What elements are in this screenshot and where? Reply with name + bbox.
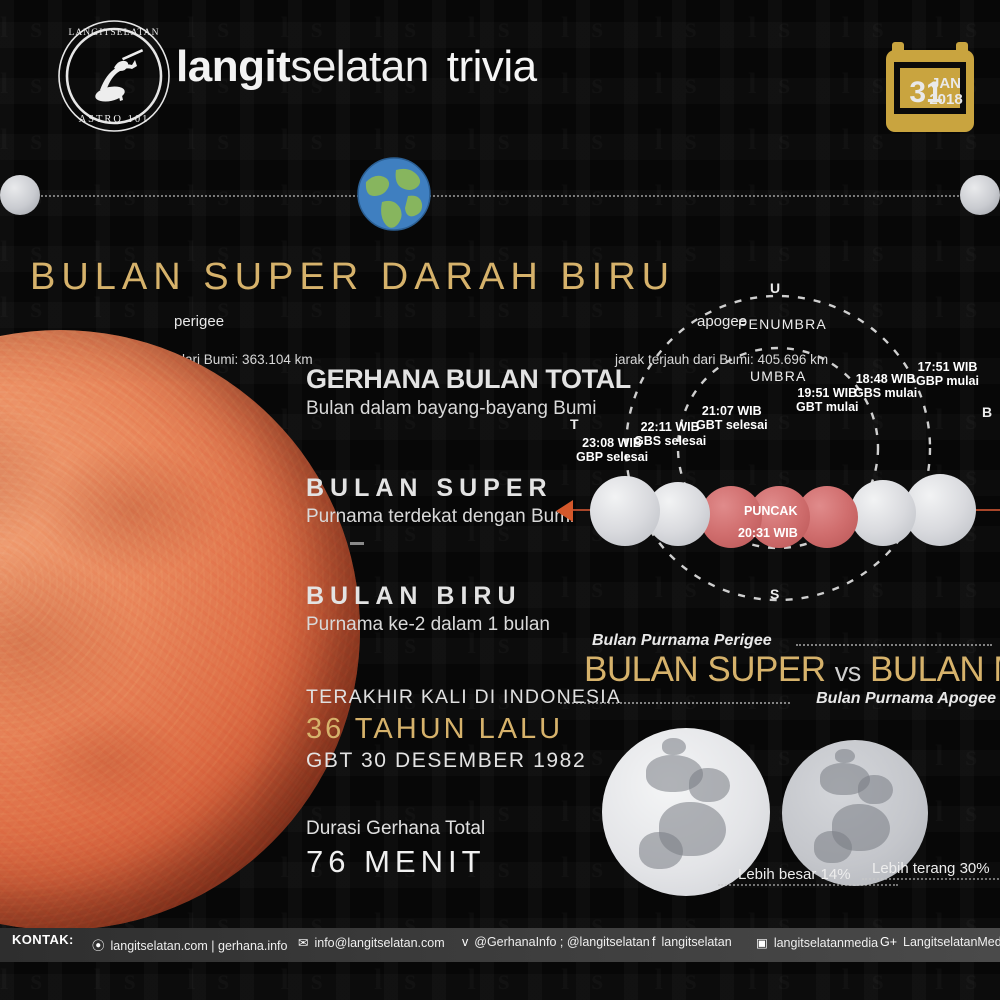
langitselatan-logo-icon[interactable]: LANGITSELATAN ASTRO 101 [56, 18, 172, 134]
bigger-dotted-line [718, 884, 898, 886]
calendar-icon: 31 JAN 2018 [884, 36, 976, 136]
footer-email-link[interactable]: ✉info@langitselatan.com [298, 935, 445, 950]
footer-link-text: langitselatan [661, 935, 731, 949]
footer-facebook-link[interactable]: flangitselatan [652, 935, 732, 949]
logo-ring-bottom-text: ASTRO 101 [79, 114, 150, 125]
eclipse-path-diagram: U S T B PENUMBRA UMBRA 23:08 WIB GBP sel… [556, 276, 1000, 612]
feature-title: BULAN BIRU [306, 582, 550, 611]
googleplus-icon: G+ [880, 935, 897, 949]
instagram-icon: ▣ [756, 935, 768, 950]
label-lebih-terang: Lebih terang 30% [872, 860, 990, 877]
phase-event: GBS selesai [634, 434, 706, 448]
phase-time-gbt-selesai: 21:07 WIB GBT selesai [696, 404, 768, 432]
label-lebih-besar: Lebih besar 14% [738, 866, 851, 883]
duration-block: Durasi Gerhana Total 76 MENIT [306, 818, 486, 880]
vs-bottom-dotted-line [560, 702, 790, 704]
apogee-moon-icon [960, 175, 1000, 215]
envelope-icon: ✉ [298, 935, 308, 950]
calendar-year: 2018 [929, 91, 962, 108]
facebook-icon: f [652, 935, 655, 949]
footer-link-text: @GerhanaInfo ; @langitselatan [474, 935, 649, 949]
footer-googleplus-link[interactable]: G+LangitselatanMedia [880, 935, 1000, 949]
footer-website-link[interactable]: ⦿langitselatan.com | gerhana.info [92, 935, 288, 954]
footer-twitter-link[interactable]: ᴠ@GerhanaInfo ; @langitselatan [462, 935, 650, 949]
footer-kontak-label: KONTAK: [12, 932, 74, 947]
feature-title: BULAN SUPER [306, 474, 574, 503]
orbit-distance-strip: perigee jarak terdekat dari Bumi: 363.10… [0, 150, 1000, 246]
penumbra-label: PENUMBRA [738, 316, 827, 332]
phase-time: 19:51 WIB [796, 386, 859, 400]
footer-link-text: LangitselatanMedia [903, 935, 1000, 949]
phase-event: GBT selesai [696, 418, 768, 432]
logo-ring-top-text: LANGITSELATAN [68, 28, 159, 38]
vs-top-dotted-line [796, 644, 992, 646]
phase-time: 17:51 WIB [916, 360, 979, 374]
duration-value: 76 MENIT [306, 844, 486, 880]
moon-phase-gbs-mulai [850, 480, 916, 546]
direction-letter-south: S [770, 586, 779, 602]
footer-link-text: info@langitselatan.com [314, 936, 444, 950]
feature-bulan-biru: BULAN BIRU Purnama ke-2 dalam 1 bulan [306, 582, 550, 636]
perigee-label: perigee [174, 313, 224, 330]
phase-event: GBP mulai [916, 374, 979, 388]
twitter-icon: ᴠ [462, 935, 468, 949]
phase-event: GBP selesai [576, 450, 648, 464]
vs-bottom-caption: Bulan Purnama Apogee [816, 690, 996, 708]
feature-sub: Purnama terdekat dengan Bumi [306, 506, 574, 528]
phase-event: GBS mulai [854, 386, 917, 400]
phase-time-gbp-mulai: 17:51 WIB GBP mulai [916, 360, 979, 388]
direction-letter-east: B [982, 404, 992, 420]
phase-time: 21:07 WIB [696, 404, 768, 418]
super-vs-mini-section: Bulan Purnama Perigee BULAN SUPER vs BUL… [556, 628, 1000, 900]
brand-langit: langit [176, 42, 290, 91]
phase-time-gbs-mulai: 18:48 WIB GBS mulai [854, 372, 917, 400]
peak-label: PUNCAK [744, 504, 797, 518]
direction-letter-north: U [770, 280, 780, 296]
penumbra-circle [626, 296, 930, 600]
orbit-dotted-line [10, 195, 990, 197]
brand-title: langitselatantrivia [176, 42, 537, 92]
phase-time: 18:48 WIB [854, 372, 917, 386]
umbra-label: UMBRA [750, 368, 807, 384]
peak-time: 20:31 WIB [738, 526, 798, 540]
direction-arrow-icon [556, 500, 573, 522]
phase-event: GBT mulai [796, 400, 859, 414]
brighter-dotted-line [862, 878, 1000, 880]
vs-title: BULAN SUPER vs BULAN MINI [584, 650, 1000, 690]
footer-link-text: langitselatan.com | gerhana.info [111, 939, 288, 953]
vs-title-vs: vs [835, 657, 861, 687]
earth-icon [356, 156, 432, 232]
infographic-page: ls ls ls ls ls ls ls ls ls ls ls ls ls l… [0, 0, 1000, 1000]
calendar-month: JAN [931, 75, 961, 92]
vs-title-right: BULAN MINI [870, 650, 1000, 689]
feature-bulan-super: BULAN SUPER Purnama terdekat dengan Bumi [306, 474, 574, 528]
duration-caption: Durasi Gerhana Total [306, 818, 486, 840]
perigee-moon-icon [0, 175, 40, 215]
rss-icon: ⦿ [92, 935, 105, 954]
brand-selatan: selatan [290, 42, 428, 91]
moon-phase-gbp-selesai [590, 476, 660, 546]
footer-instagram-link[interactable]: ▣langitselatanmedia [756, 935, 878, 950]
footer-link-text: langitselatanmedia [774, 936, 878, 950]
phase-time-gbt-mulai: 19:51 WIB GBT mulai [796, 386, 859, 414]
direction-letter-west: T [570, 416, 579, 432]
header: LANGITSELATAN ASTRO 101 langitselatantri… [0, 0, 1000, 150]
divider [350, 542, 364, 545]
vs-title-left: BULAN SUPER [584, 650, 826, 689]
brand-trivia: trivia [447, 42, 537, 91]
feature-sub: Purnama ke-2 dalam 1 bulan [306, 614, 550, 636]
vs-top-caption: Bulan Purnama Perigee [592, 632, 772, 650]
